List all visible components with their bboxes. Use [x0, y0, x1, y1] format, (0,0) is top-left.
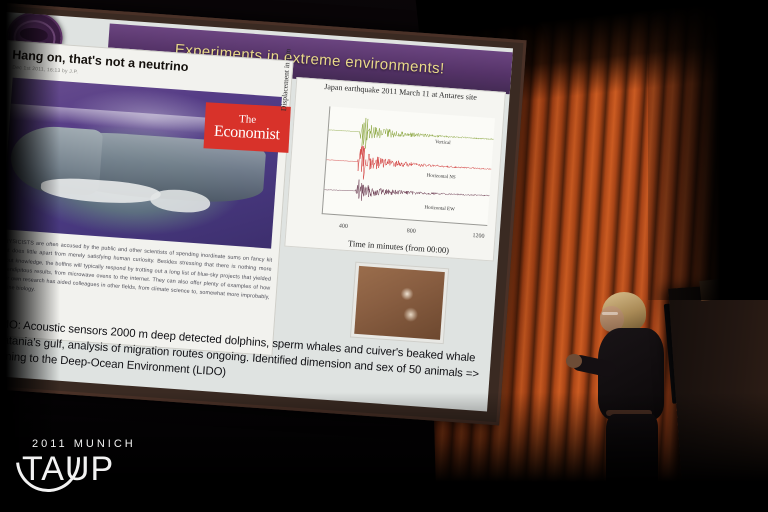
chart-x-tick-0: 400 — [339, 223, 348, 230]
taup-watermark: 2011 MUNICH TAUP — [10, 422, 160, 498]
chart-series-horizontal-ew — [328, 115, 495, 157]
speaker-glasses — [602, 312, 618, 315]
chart-series-horizontal-ns — [325, 143, 492, 188]
watermark-acronym: TAUP — [22, 450, 114, 489]
hall-shadow-right — [648, 0, 768, 300]
masthead-line-2: Economist — [214, 123, 281, 143]
deep-sea-inset-photo-icon — [350, 262, 449, 345]
conference-hall-scene: Experiments in extreme environments! Han… — [0, 0, 768, 512]
chart-x-axis-label: Time in minutes (from 00:00) — [303, 235, 493, 259]
projection-screen: Experiments in extreme environments! Han… — [0, 2, 531, 430]
speaker-hand — [566, 354, 582, 368]
seismogram-chart: Japan earthquake 2011 March 11 at Antare… — [284, 77, 506, 262]
seismogram-traces — [323, 106, 495, 225]
screen-frame: Experiments in extreme environments! Han… — [0, 2, 527, 425]
chart-x-tick-2: 1200 — [472, 233, 484, 240]
economist-masthead: The Economist — [203, 102, 290, 153]
chart-series-label-vertical: Vertical — [435, 140, 451, 146]
chart-series-vertical — [324, 177, 490, 210]
watermark-year-city: 2011 MUNICH — [32, 438, 136, 450]
presentation-slide: Experiments in extreme environments! Han… — [0, 12, 513, 412]
chart-plot-area — [322, 106, 495, 226]
chart-x-tick-1: 800 — [406, 228, 415, 235]
